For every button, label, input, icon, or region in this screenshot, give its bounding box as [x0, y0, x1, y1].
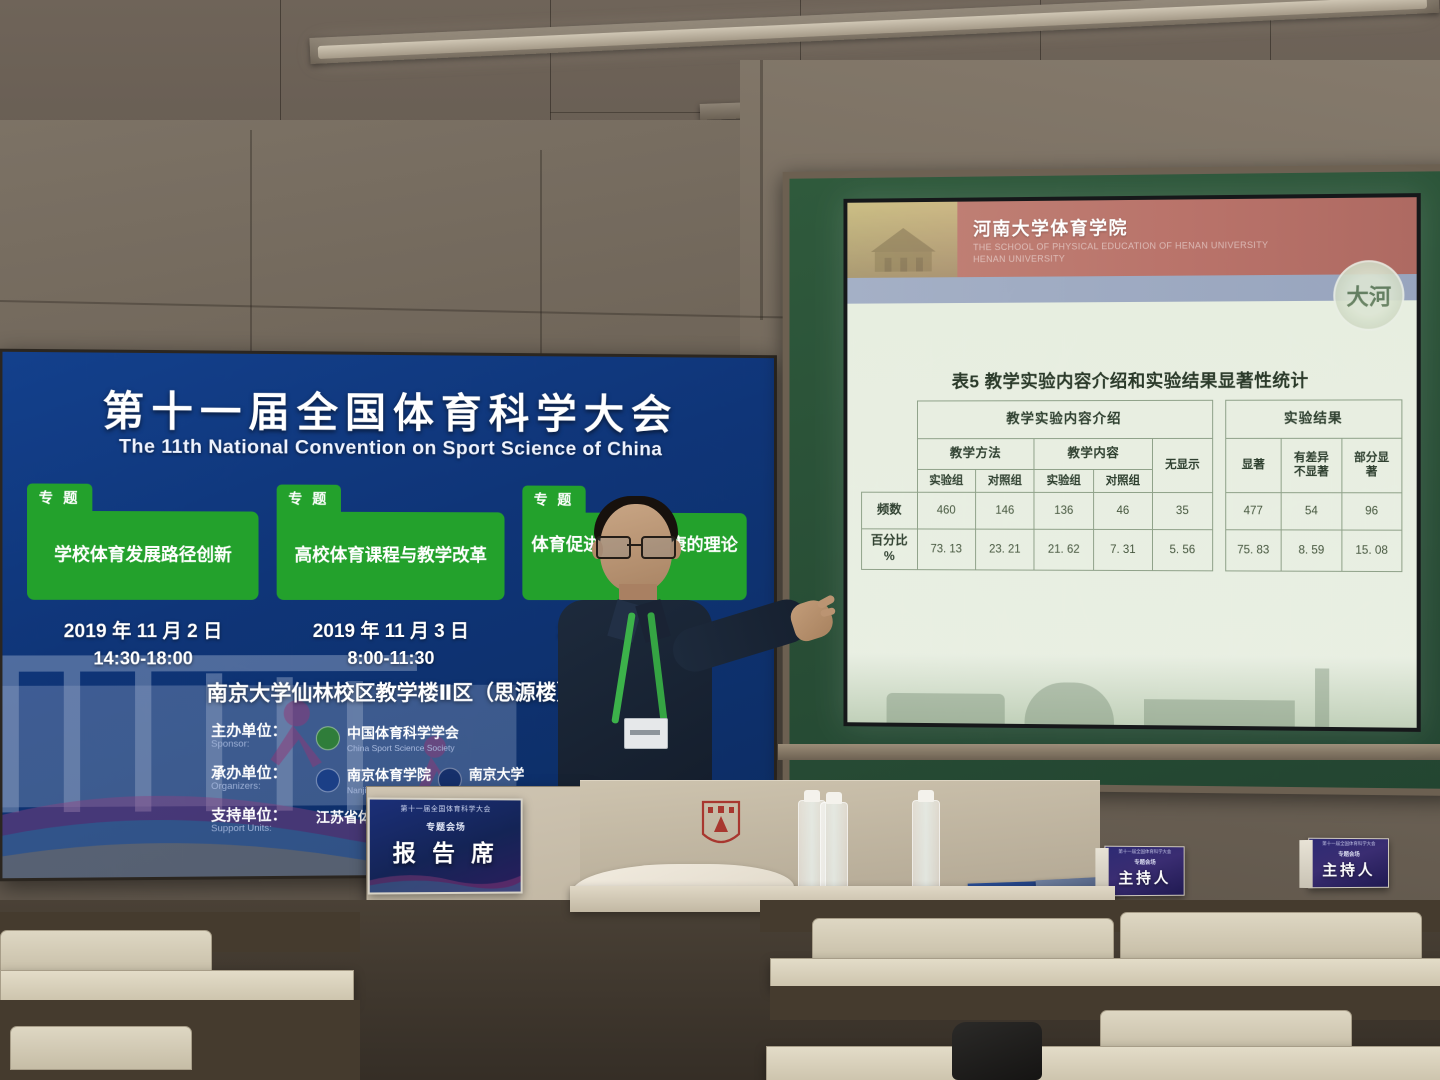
cell-freq-5: 477: [1225, 492, 1281, 530]
podium-sign-top: 第十一届全国体育科学大会: [370, 804, 521, 815]
seal-text: 大河: [1346, 279, 1391, 312]
topic-2-name: 高校体育课程与教学改革: [277, 512, 505, 600]
org-support-label-en: Support Units:: [211, 823, 316, 834]
cell-freq-1: 146: [976, 492, 1035, 529]
seat-back: [10, 1026, 192, 1070]
statistics-table: 教学实验内容介绍 实验结果 教学方法 教学内容 无显示 显著 有差异不显著 部分…: [861, 399, 1402, 571]
org-organizer-label: 承办单位：: [211, 765, 287, 782]
banner-subtitle: The 11th National Convention on Sport Sc…: [2, 435, 774, 462]
cell-freq-0: 460: [917, 492, 976, 529]
cell-pct-5: 75. 83: [1225, 530, 1281, 571]
org-sponsor-label-en: Sponsor:: [211, 739, 316, 749]
group-header-results: 实验结果: [1225, 400, 1402, 438]
org-sponsor-name: 中国体育科学学会: [347, 725, 459, 741]
org-organizer-label-en: Organizers:: [211, 781, 316, 792]
org-organizer-name-1: 南京体育学院: [347, 767, 431, 783]
nanjing-university-crest-icon: [700, 800, 742, 852]
cell-pct-4: 5. 56: [1153, 530, 1213, 571]
topic-2-tab: 专 题: [277, 485, 341, 512]
topic-1-tab: 专 题: [27, 483, 92, 511]
projection-screen: 河南大学体育学院 THE SCHOOL OF PHYSICAL EDUCATIO…: [843, 193, 1420, 732]
sponsor-logo-icon: [316, 726, 340, 750]
slide-organization-cn: 河南大学体育学院: [973, 214, 1128, 241]
name-card-1-top: 第十一届全国体育科学大会: [1105, 849, 1183, 855]
name-card-1-main: 主持人: [1105, 867, 1183, 888]
seat-back: [1120, 912, 1422, 960]
cell-pct-2: 21. 62: [1034, 530, 1093, 570]
slide-organization-en: THE SCHOOL OF PHYSICAL EDUCATION OF HENA…: [973, 239, 1268, 266]
row-label-frequency: 频数: [862, 492, 917, 529]
cell-freq-4: 35: [1153, 492, 1213, 530]
name-card-moderator-2: 第十一届全国体育科学大会 专题会场 主持人: [1308, 838, 1389, 889]
sub-header-method: 教学方法: [917, 438, 1034, 469]
slide-header: 河南大学体育学院 THE SCHOOL OF PHYSICAL EDUCATIO…: [847, 197, 1416, 278]
cell-freq-7: 96: [1341, 493, 1401, 531]
topic-1: 专 题 学校体育发展路径创新 2019 年 11 月 2 日 14:30-18:…: [27, 483, 258, 669]
name-card-1-sub: 专题会场: [1105, 858, 1183, 866]
column-header-partly-significant: 部分显著: [1341, 438, 1401, 493]
lecture-hall-photo: 第十一届全国体育科学大会 The 11th National Conventio…: [0, 0, 1440, 1080]
cell-pct-6: 8. 59: [1281, 530, 1341, 571]
name-card-2-main: 主持人: [1309, 859, 1388, 880]
desk-row: [770, 958, 1440, 988]
slide-header-photo: [847, 202, 957, 278]
cell-pct-1: 23. 21: [976, 529, 1035, 569]
table-row: 百分比% 73. 13 23. 21 21. 62 7. 31 5. 56 75…: [862, 529, 1402, 571]
cell-pct-0: 73. 13: [917, 529, 976, 569]
sub-header-content: 教学内容: [1034, 438, 1152, 469]
name-card-2-top: 第十一届全国体育科学大会: [1309, 841, 1388, 847]
table-title: 表5 教学实验内容介绍和实验结果显著性统计: [847, 367, 1416, 394]
cell-pct-7: 15. 08: [1341, 530, 1401, 571]
org-sponsor-label: 主办单位：: [211, 722, 287, 739]
podium-sign-subtitle: 专题会场: [370, 820, 521, 833]
org-support-label: 支持单位：: [211, 807, 287, 825]
slide-header-band: [847, 274, 1416, 304]
group-header-content: 教学实验内容介绍: [917, 400, 1212, 438]
desk-row: [766, 1046, 1440, 1080]
column-header-significant: 显著: [1225, 438, 1281, 492]
banner-title: 第十一届全国体育科学大会: [2, 376, 774, 441]
table-group-header-row: 教学实验内容介绍 实验结果: [862, 400, 1402, 439]
org-row-sponsor: 主办单位： Sponsor: 中国体育科学学会 China Sport Scie…: [211, 723, 537, 754]
org-sponsor-name-en: China Sport Science Society: [347, 743, 459, 753]
cell-freq-6: 54: [1281, 493, 1341, 531]
column-header-exp-group-2: 实验组: [1034, 469, 1093, 492]
cell-pct-3: 7. 31: [1093, 530, 1152, 570]
podium-sign: 第十一届全国体育科学大会 专题会场 报 告 席: [368, 797, 523, 894]
name-card-moderator-1: 第十一届全国体育科学大会 专题会场 主持人: [1104, 846, 1184, 897]
podium-sign-graphic: [370, 864, 521, 893]
topic-2-date: 2019 年 11 月 3 日: [277, 616, 505, 643]
water-bottle: [912, 800, 940, 898]
nsi-logo-icon: [316, 768, 340, 792]
column-header-ctrl-group-1: 对照组: [976, 469, 1035, 492]
name-card-2-sub: 专题会场: [1309, 850, 1388, 858]
cell-freq-2: 136: [1034, 492, 1093, 529]
topic-1-name: 学校体育发展路径创新: [27, 511, 258, 600]
table-row: 频数 460 146 136 46 35 477 54 96: [862, 492, 1402, 530]
desk-row: [0, 970, 354, 1002]
slide-footer-graphic: [847, 653, 1416, 728]
org-organizer-name-2: 南京大学: [469, 766, 525, 782]
table-sub-header-row: 教学方法 教学内容 无显示 显著 有差异不显著 部分显著: [862, 438, 1402, 469]
topic-1-time: 14:30-18:00: [27, 648, 258, 669]
column-header-exp-group-1: 实验组: [917, 469, 976, 492]
row-label-percentage: 百分比%: [862, 529, 917, 569]
column-header-ctrl-group-2: 对照组: [1093, 469, 1152, 492]
chalk-rail: [778, 744, 1440, 760]
backpack-on-floor: [952, 1022, 1042, 1080]
glasses-icon: [596, 536, 678, 555]
column-header-diff-not-significant: 有差异不显著: [1281, 438, 1341, 492]
temple-building-icon: [865, 226, 942, 272]
presentation-slide: 河南大学体育学院 THE SCHOOL OF PHYSICAL EDUCATIO…: [847, 197, 1416, 728]
university-seal-icon: 大河: [1333, 260, 1404, 331]
topic-1-date: 2019 年 11 月 2 日: [27, 616, 258, 643]
column-header-no-display: 无显示: [1153, 438, 1213, 492]
topic-2: 专 题 高校体育课程与教学改革 2019 年 11 月 3 日 8:00-11:…: [277, 485, 505, 670]
topic-2-time: 8:00-11:30: [277, 648, 505, 669]
cell-freq-3: 46: [1093, 492, 1152, 529]
name-badge: [624, 718, 668, 749]
